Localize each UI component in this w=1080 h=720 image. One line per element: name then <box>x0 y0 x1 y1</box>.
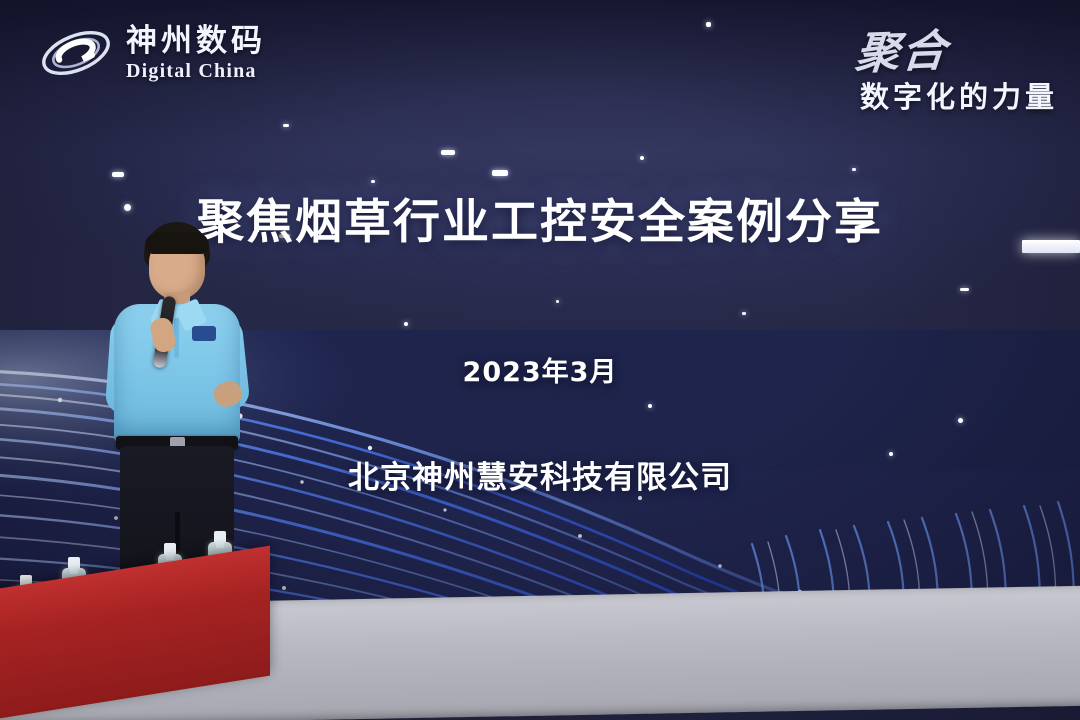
bottle-neck <box>70 566 78 574</box>
presenter-shirt-logo <box>192 326 216 341</box>
logo-name-en: Digital China <box>126 61 266 81</box>
bottle-neck <box>166 552 174 560</box>
digital-china-swirl-logo-icon <box>38 18 114 88</box>
panel-table <box>0 560 280 720</box>
stage-photo: 神州数码 Digital China 聚合 数字化的力量 聚焦烟草行业工控安全案… <box>0 0 1080 720</box>
logo-name-cn: 神州数码 <box>126 26 266 57</box>
red-tablecloth <box>0 546 270 720</box>
presenter-fringe <box>145 232 209 254</box>
bottle-neck <box>216 540 224 548</box>
digital-china-logo: 神州数码 Digital China <box>38 18 266 88</box>
event-logo: 聚合 数字化的力量 <box>856 16 1058 116</box>
event-calligraphy: 聚合 <box>853 14 951 81</box>
